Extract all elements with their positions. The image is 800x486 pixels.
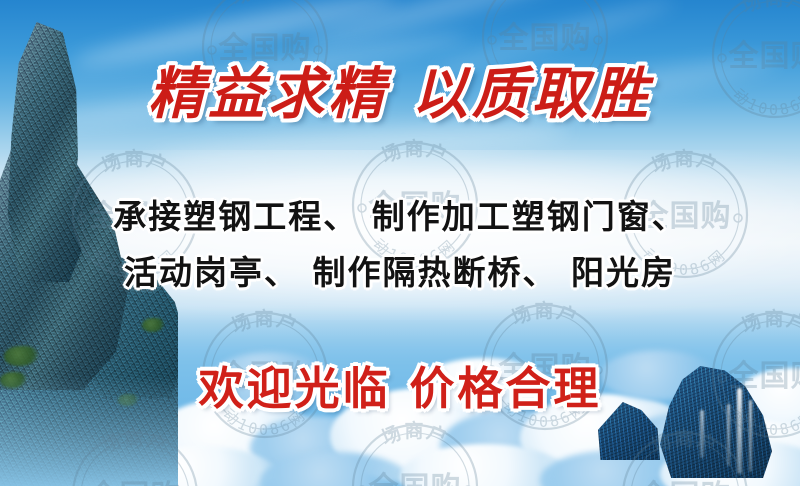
welcome-tagline: 欢迎光临 价格合理 [0,366,800,411]
banner-canvas: 场商户 动10086网 全国购 场商户 动10086网 全国购 场商户 动100… [0,0,800,486]
service-line-2: 活动岗亭、 制作隔热断桥、 阳光房 [0,256,800,289]
service-line-1: 承接塑钢工程、 制作加工塑钢门窗、 [0,200,800,233]
headline-slogan: 精益求精 以质取胜 [0,66,800,122]
